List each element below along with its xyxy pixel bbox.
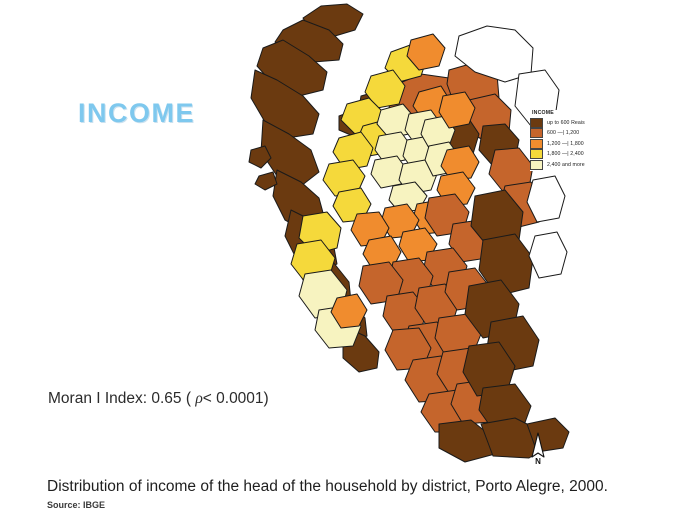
map-boundary-area (529, 232, 567, 278)
choropleth-map (243, 0, 573, 480)
legend-swatch (530, 139, 543, 149)
slide-canvas: INCOME (0, 0, 693, 520)
rho-symbol: ρ (195, 390, 202, 407)
legend-item: 600 —| 1,200 (530, 129, 604, 138)
moran-prefix: Moran I Index: 0.65 ( (48, 390, 195, 407)
legend-label: 1,800 —| 2,400 (547, 151, 584, 157)
legend-item: 2,400 and more (530, 160, 604, 169)
north-arrow-label: N (524, 457, 552, 466)
legend-item: up to 600 Reais (530, 118, 604, 127)
legend-swatch (530, 128, 543, 138)
map-district (255, 172, 277, 190)
legend-label: up to 600 Reais (547, 120, 585, 126)
map-legend: INCOME up to 600 Reais 600 —| 1,200 1,20… (530, 110, 604, 171)
north-arrow-icon (529, 432, 547, 458)
moran-index-statistic: Moran I Index: 0.65 ( ρ< 0.0001) (48, 390, 269, 408)
legend-item: 1,200 —| 1,800 (530, 139, 604, 148)
legend-title: INCOME (532, 110, 604, 116)
figure-caption: Distribution of income of the head of th… (47, 478, 608, 496)
page-title: INCOME (78, 98, 195, 129)
legend-swatch (530, 149, 543, 159)
legend-item: 1,800 —| 2,400 (530, 150, 604, 159)
north-arrow: N (524, 432, 552, 466)
legend-swatch (530, 118, 543, 128)
legend-swatch (530, 160, 543, 170)
legend-label: 1,200 —| 1,800 (547, 141, 584, 147)
legend-label: 2,400 and more (547, 162, 585, 168)
moran-suffix: < 0.0001) (203, 390, 269, 407)
legend-label: 600 —| 1,200 (547, 130, 579, 136)
map-svg (243, 0, 573, 480)
figure-source: Source: IBGE (47, 500, 105, 510)
